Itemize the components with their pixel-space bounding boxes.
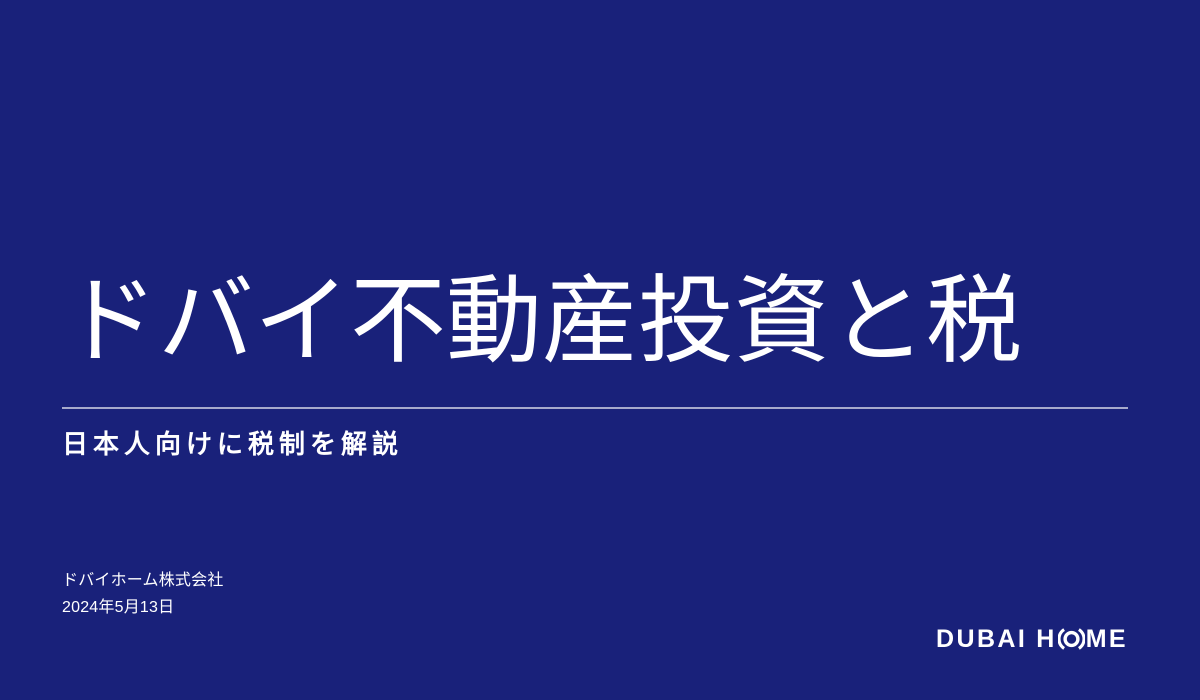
company-name: ドバイホーム株式会社 bbox=[62, 567, 224, 594]
circle-with-arcs-icon bbox=[1058, 624, 1085, 654]
page-subtitle: 日本人向けに税制を解説 bbox=[62, 428, 403, 462]
page-title: ドバイ不動産投資と税 bbox=[62, 268, 1132, 376]
title-divider bbox=[62, 407, 1128, 409]
logo-text-me: ME bbox=[1086, 624, 1128, 654]
brand-logo: DUBAI H ME bbox=[936, 624, 1128, 654]
logo-text-h: H bbox=[1036, 624, 1056, 654]
logo-text-dubai: DUBAI bbox=[936, 624, 1027, 654]
footer-meta: ドバイホーム株式会社 2024年5月13日 bbox=[62, 567, 224, 621]
title-slide: ドバイ不動産投資と税 日本人向けに税制を解説 ドバイホーム株式会社 2024年5… bbox=[0, 0, 1200, 700]
title-block: ドバイ不動産投資と税 bbox=[62, 268, 1132, 376]
presentation-date: 2024年5月13日 bbox=[62, 594, 224, 621]
